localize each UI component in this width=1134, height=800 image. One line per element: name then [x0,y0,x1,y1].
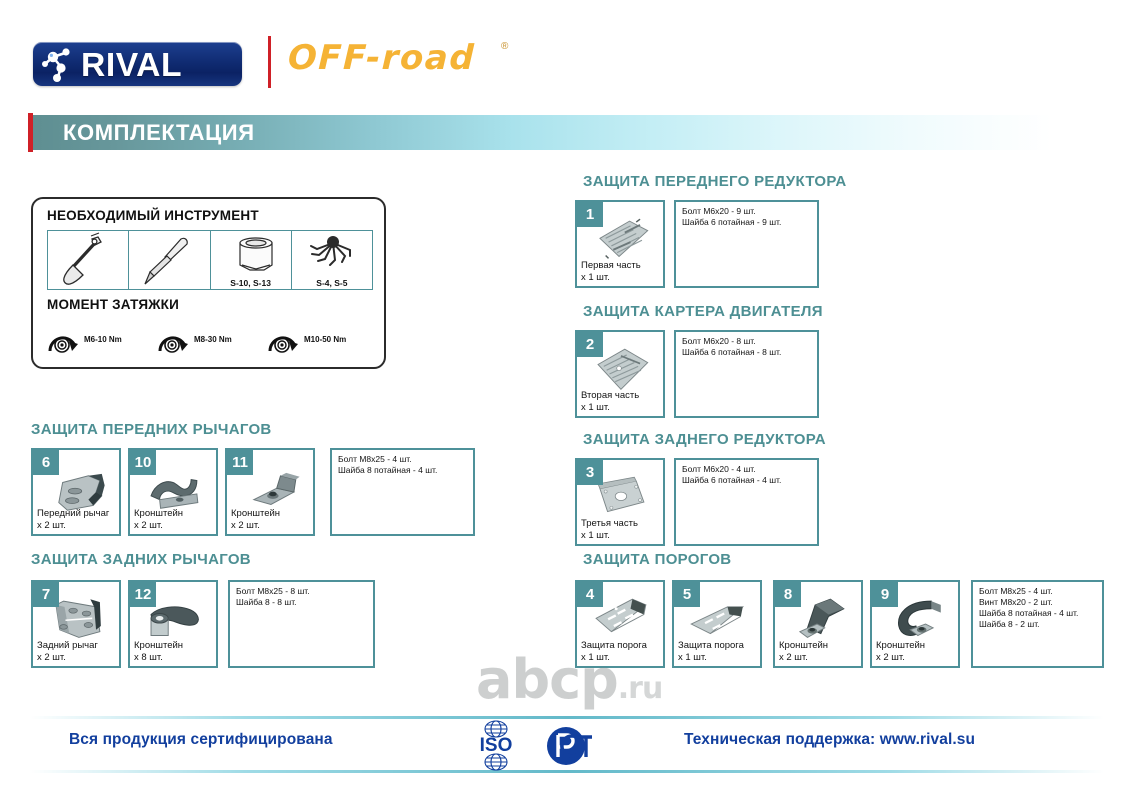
torque-row: M6-10 Nm M8-30 Nm [47,321,377,357]
section-title-engine-crankcase: ЗАЩИТА КАРТЕРА ДВИГАТЕЛЯ [583,303,823,320]
part-number-1: 1 [577,202,603,227]
part-card-1: 1 Первая часть x 1 шт. [575,200,665,288]
rival-wordmark: RIVAL [81,48,182,81]
pct-logo-icon [545,723,597,769]
torque-text-m10: M10-50 Nm [304,335,346,344]
part-caption-5: Защита порога x 1 шт. [678,640,744,663]
part-caption-9: Кронштейн x 2 шт. [876,640,925,663]
part-caption-8: Кронштейн x 2 шт. [779,640,828,663]
torque-item-m6: M6-10 Nm [47,321,157,357]
torque-text-m8: M8-30 Nm [194,335,232,344]
torque-item-m8: M8-30 Nm [157,321,267,357]
part-card-5: 5 Защита порога x 1 шт. [672,580,762,668]
iso-logo-icon: ISO [473,719,519,771]
section-title-sills: ЗАЩИТА ПОРОГОВ [583,551,731,568]
part-card-3: 3 Третья часть x 1 шт. [575,458,665,546]
torque-arrow-icon [157,324,191,354]
part-caption-11: Кронштейн x 2 шт. [231,508,280,531]
part-card-9: 9 Кронштейн x 2 шт. [870,580,960,668]
watermark-tld: .ru [618,671,663,706]
part-card-12: 12 Кронштейн x 8 шт. [128,580,218,668]
part-caption-1: Первая часть x 1 шт. [581,260,641,283]
hardware-box-engine-crankcase: Болт М6х20 - 8 шт. Шайба 6 потайная - 8 … [674,330,819,418]
section-title-front-gearbox: ЗАЩИТА ПЕРЕДНЕГО РЕДУКТОРА [583,173,847,190]
part-caption-3: Третья часть x 1 шт. [581,518,638,541]
torque-arrow-icon [47,324,81,354]
part-caption-2: Вторая часть x 1 шт. [581,390,639,413]
part-number-2: 2 [577,332,603,357]
footer-divider-top [30,716,1104,719]
section-title-front-arms: ЗАЩИТА ПЕРЕДНИХ РЫЧАГОВ [31,421,272,438]
tool-label-socket: S-10, S-13 [211,278,291,288]
part-number-7: 7 [33,582,59,607]
tool-cell-screwdriver [128,230,209,290]
tool-label-hex-keys: S-4, S-5 [292,278,372,288]
hardware-box-rear-gearbox: Болт М6х20 - 4 шт. Шайба 6 потайная - 4 … [674,458,819,546]
part-card-11: 11 Кронштейн x 2 шт. [225,448,315,536]
part-card-7: 7 Задний рычаг x 2 шт. [31,580,121,668]
part-caption-4: Защита порога x 1 шт. [581,640,647,663]
offroad-wordmark: OFF-road [287,41,475,75]
part-number-9: 9 [872,582,898,607]
part-number-10: 10 [130,450,156,475]
hardware-box-front-arms: Болт М8х25 - 4 шт. Шайба 8 потайная - 4 … [330,448,475,536]
molecule-icon [39,44,81,84]
hardware-list-front-gearbox: Болт М6х20 - 9 шт. Шайба 6 потайная - 9 … [682,206,781,228]
registered-mark-icon: ® [501,41,508,52]
banner-accent-bar [28,113,33,152]
tools-row: S-10, S-13 S-4, S-5 [47,230,373,290]
tool-cell-hex-keys: S-4, S-5 [291,230,373,290]
hardware-list-rear-gearbox: Болт М6х20 - 4 шт. Шайба 6 потайная - 4 … [682,464,781,486]
section-title-rear-arms: ЗАЩИТА ЗАДНИХ РЫЧАГОВ [31,551,251,568]
hardware-list-rear-arms: Болт М8х25 - 8 шт. Шайба 8 - 8 шт. [236,586,310,608]
logo-divider [268,36,271,88]
page-header: RIVAL OFF-road ® [0,0,1134,105]
part-number-12: 12 [130,582,156,607]
hardware-box-sills: Болт М8х25 - 4 шт. Винт М8х20 - 2 шт. Ша… [971,580,1104,668]
part-card-2: 2 Вторая часть x 1 шт. [575,330,665,418]
page-title: КОМПЛЕКТАЦИЯ [63,120,255,146]
part-card-6: 6 Передний рычаг x 2 шт. [31,448,121,536]
hardware-box-rear-arms: Болт М8х25 - 8 шт. Шайба 8 - 8 шт. [228,580,375,668]
screwdriver-icon [129,231,211,289]
part-caption-12: Кронштейн x 8 шт. [134,640,183,663]
torque-title: МОМЕНТ ЗАТЯЖКИ [47,297,179,312]
catalog-page: RIVAL OFF-road ® КОМПЛЕКТАЦИЯ НЕОБХОДИМЫ… [0,0,1134,800]
torque-arrow-icon [267,324,301,354]
part-caption-7: Задний рычаг x 2 шт. [37,640,98,663]
footer-divider-bottom [30,770,1104,773]
ratchet-wrench-icon [48,231,130,289]
part-caption-10: Кронштейн x 2 шт. [134,508,183,531]
hardware-list-engine-crankcase: Болт М6х20 - 8 шт. Шайба 6 потайная - 8 … [682,336,781,358]
part-number-6: 6 [33,450,59,475]
iso-logo-text: ISO [480,735,513,756]
part-card-4: 4 Защита порога x 1 шт. [575,580,665,668]
hardware-list-front-arms: Болт М8х25 - 4 шт. Шайба 8 потайная - 4 … [338,454,437,476]
hardware-box-front-gearbox: Болт М6х20 - 9 шт. Шайба 6 потайная - 9 … [674,200,819,288]
tool-cell-socket: S-10, S-13 [210,230,291,290]
section-title-rear-gearbox: ЗАЩИТА ЗАДНЕГО РЕДУКТОРА [583,431,826,448]
torque-item-m10: M10-50 Nm [267,321,377,357]
part-number-11: 11 [227,450,253,475]
required-tools-title: НЕОБХОДИМЫЙ ИНСТРУМЕНТ [47,208,259,223]
part-caption-6: Передний рычаг x 2 шт. [37,508,109,531]
rival-logo: RIVAL [33,42,242,86]
part-number-8: 8 [775,582,801,607]
hardware-list-sills: Болт М8х25 - 4 шт. Винт М8х20 - 2 шт. Ша… [979,586,1078,630]
part-number-3: 3 [577,460,603,485]
torque-text-m6: M6-10 Nm [84,335,122,344]
part-card-8: 8 Кронштейн x 2 шт. [773,580,863,668]
tool-cell-ratchet [47,230,128,290]
support-text: Техническая поддержка: www.rival.su [684,731,975,749]
certification-text: Вся продукция сертифицирована [69,731,333,749]
part-number-5: 5 [674,582,700,607]
part-number-4: 4 [577,582,603,607]
part-card-10: 10 Кронштейн x 2 шт. [128,448,218,536]
required-tools-box: НЕОБХОДИМЫЙ ИНСТРУМЕНТ [31,197,386,369]
